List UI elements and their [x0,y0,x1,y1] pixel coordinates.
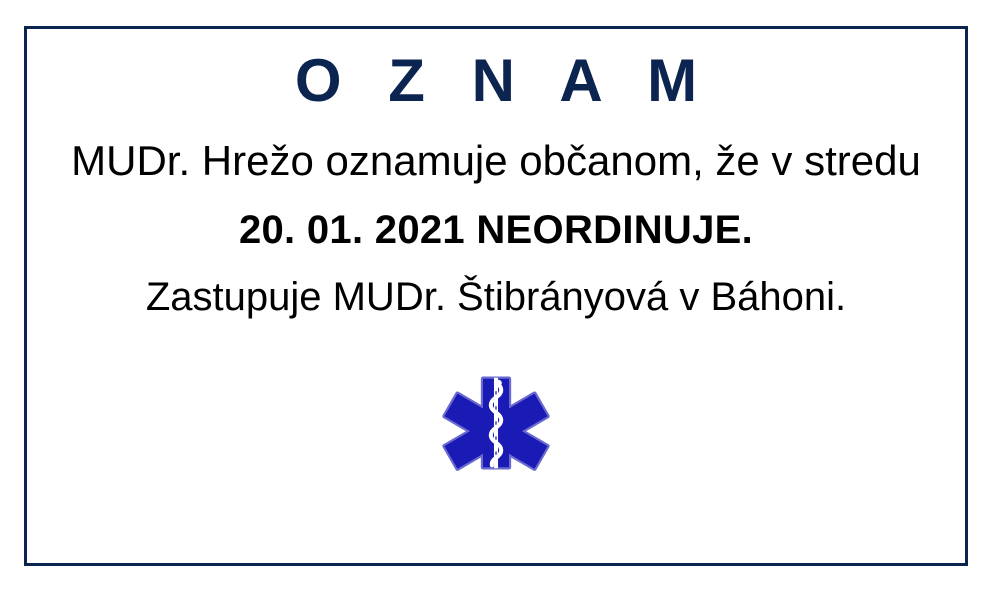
announcement-poster: O Z N A M MUDr. Hrežo oznamuje občanom, … [0,0,992,591]
announcement-line: MUDr. Hrežo oznamuje občanom, že v stred… [71,140,921,182]
page-title: O Z N A M [280,51,712,111]
substitute-line: Zastupuje MUDr. Štibrányová v Báhoni. [146,277,846,317]
star-of-life-icon [438,365,554,481]
date-line: 20. 01. 2021 NEORDINUJE. [239,210,753,250]
poster-content: O Z N A M MUDr. Hrežo oznamuje občanom, … [27,29,965,563]
star-of-life-graphic [438,365,554,481]
